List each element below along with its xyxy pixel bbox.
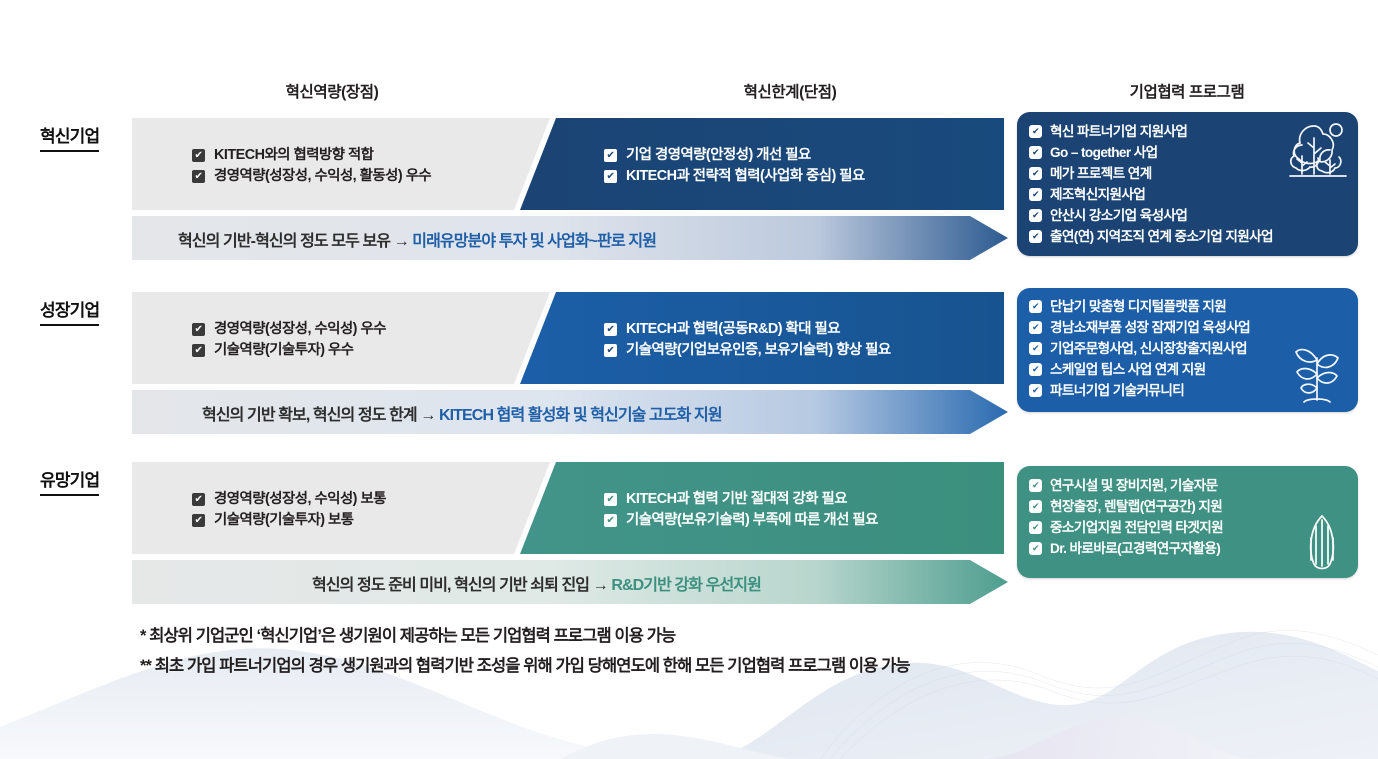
check-icon: ✔ — [1029, 384, 1042, 397]
program-item: ✔경남소재부품 성장 잠재기업 육성사업 — [1029, 317, 1358, 338]
check-icon: ✔ — [1029, 500, 1042, 513]
check-icon: ✔ — [1029, 188, 1042, 201]
row-2-program-box: ✔단납기 맞춤형 디지털플랫폼 지원 ✔경남소재부품 성장 잠재기업 육성사업 … — [1017, 288, 1358, 412]
check-icon: ✔ — [1029, 542, 1042, 555]
check-icon: ✔ — [604, 170, 617, 183]
checklist-item: ✔KITECH과 전략적 협력(사업화 중심) 필요 — [604, 166, 865, 187]
column-header-limits: 혁신한계(단점) — [560, 80, 1020, 102]
checklist-item: ✔KITECH와의 협력방향 적합 — [192, 145, 431, 166]
summary-prefix: 혁신의 정도 준비 미비, 혁신의 기반 쇠퇴 진입 → — [312, 577, 611, 594]
summary-accent: R&D기반 강화 우선지원 — [611, 577, 761, 594]
checklist-item: ✔기술역량(보유기술력) 부족에 따른 개선 필요 — [604, 510, 878, 531]
row-3-strengths-list: ✔경영역량(성장성, 수익성) 보통 ✔기술역량(기술투자) 보통 — [192, 489, 386, 531]
check-icon: ✔ — [1029, 300, 1042, 313]
row-3-program-box: ✔연구시설 및 장비지원, 기술자문 ✔현장출장, 렌탈랩(연구공간) 지원 ✔… — [1017, 466, 1358, 578]
check-icon: ✔ — [1029, 230, 1042, 243]
row-3-limits-list: ✔KITECH과 협력 기반 절대적 강화 필요 ✔기술역량(보유기술력) 부족… — [604, 489, 878, 531]
program-item: ✔파트너기업 기술커뮤니티 — [1029, 380, 1358, 401]
row-2-summary-arrow: 혁신의 기반 확보, 혁신의 정도 한계 → KITECH 협력 활성화 및 혁… — [132, 390, 1012, 434]
check-icon: ✔ — [604, 493, 617, 506]
check-icon: ✔ — [192, 493, 205, 506]
check-icon: ✔ — [1029, 146, 1042, 159]
checklist-item: ✔기술역량(기술투자) 우수 — [192, 340, 386, 361]
row-label-growth: 성장기업 — [40, 296, 99, 326]
program-item: ✔혁신 파트너기업 지원사업 — [1029, 121, 1358, 142]
checklist-item: ✔경영역량(성장성, 수익성) 우수 — [192, 319, 386, 340]
summary-accent: KITECH 협력 활성화 및 혁신기술 고도화 지원 — [439, 407, 722, 424]
check-icon: ✔ — [604, 149, 617, 162]
row-1-capability-band: ✔KITECH와의 협력방향 적합 ✔경영역량(성장성, 수익성, 활동성) 우… — [132, 118, 1012, 210]
program-item: ✔현장출장, 렌탈랩(연구공간) 지원 — [1029, 496, 1358, 517]
checklist-item: ✔경영역량(성장성, 수익성, 활동성) 우수 — [192, 166, 431, 187]
check-icon: ✔ — [1029, 342, 1042, 355]
check-icon: ✔ — [604, 514, 617, 527]
column-header-programs: 기업협력 프로그램 — [1017, 80, 1357, 102]
row-1-limits-list: ✔기업 경영역량(안정성) 개선 필요 ✔KITECH과 전략적 협력(사업화 … — [604, 145, 865, 187]
program-item: ✔제조혁신지원사업 — [1029, 184, 1358, 205]
program-item: ✔출연(연) 지역조직 연계 중소기업 지원사업 — [1029, 226, 1358, 247]
check-icon: ✔ — [192, 149, 205, 162]
checklist-item: ✔기술역량(기술투자) 보통 — [192, 510, 386, 531]
footnote-1: * 최상위 기업군인 ‘혁신기업’은 생기원이 제공하는 모든 기업협력 프로그… — [140, 622, 675, 646]
program-item: ✔Dr. 바로바로(고경력연구자활용) — [1029, 538, 1358, 559]
check-icon: ✔ — [192, 344, 205, 357]
check-icon: ✔ — [1029, 321, 1042, 334]
check-icon: ✔ — [1029, 521, 1042, 534]
row-2-capability-band: ✔경영역량(성장성, 수익성) 우수 ✔기술역량(기술투자) 우수 ✔KITEC… — [132, 292, 1012, 384]
footnote-2: ** 최초 가입 파트너기업의 경우 생기원과의 협력기반 조성을 위해 가입 … — [140, 652, 910, 676]
summary-prefix: 혁신의 기반 확보, 혁신의 정도 한계 → — [202, 407, 439, 424]
row-2-strengths-list: ✔경영역량(성장성, 수익성) 우수 ✔기술역량(기술투자) 우수 — [192, 319, 386, 361]
checklist-item: ✔기술역량(기업보유인증, 보유기술력) 향상 필요 — [604, 340, 891, 361]
program-item: ✔스케일업 팁스 사업 연계 지원 — [1029, 359, 1358, 380]
checklist-item: ✔기업 경영역량(안정성) 개선 필요 — [604, 145, 865, 166]
column-header-strengths: 혁신역량(장점) — [132, 80, 532, 102]
check-icon: ✔ — [192, 170, 205, 183]
row-1-program-box: ✔혁신 파트너기업 지원사업 ✔Go – together 사업 ✔메가 프로젝… — [1017, 112, 1358, 256]
check-icon: ✔ — [1029, 209, 1042, 222]
row-label-promising: 유망기업 — [40, 466, 99, 496]
program-item: ✔연구시설 및 장비지원, 기술자문 — [1029, 475, 1358, 496]
check-icon: ✔ — [1029, 479, 1042, 492]
program-item: ✔메가 프로젝트 연계 — [1029, 163, 1358, 184]
program-item: ✔안산시 강소기업 육성사업 — [1029, 205, 1358, 226]
row-3-capability-band: ✔경영역량(성장성, 수익성) 보통 ✔기술역량(기술투자) 보통 ✔KITEC… — [132, 462, 1012, 554]
program-item: ✔단납기 맞춤형 디지털플랫폼 지원 — [1029, 296, 1358, 317]
check-icon: ✔ — [1029, 363, 1042, 376]
row-2-summary-text: 혁신의 기반 확보, 혁신의 정도 한계 → KITECH 협력 활성화 및 혁… — [202, 401, 722, 425]
program-item: ✔중소기업지원 전담인력 타겟지원 — [1029, 517, 1358, 538]
check-icon: ✔ — [1029, 125, 1042, 138]
row-3-summary-text: 혁신의 정도 준비 미비, 혁신의 기반 쇠퇴 진입 → R&D기반 강화 우선… — [312, 571, 761, 595]
row-1-summary-text: 혁신의 기반-혁신의 정도 모두 보유 → 미래유망분야 투자 및 사업화~판로… — [178, 227, 656, 251]
checklist-item: ✔KITECH과 협력(공동R&D) 확대 필요 — [604, 319, 891, 340]
check-icon: ✔ — [192, 323, 205, 336]
check-icon: ✔ — [604, 323, 617, 336]
checklist-item: ✔경영역량(성장성, 수익성) 보통 — [192, 489, 386, 510]
summary-prefix: 혁신의 기반-혁신의 정도 모두 보유 → — [178, 233, 412, 250]
row-3-summary-arrow: 혁신의 정도 준비 미비, 혁신의 기반 쇠퇴 진입 → R&D기반 강화 우선… — [132, 560, 1012, 604]
check-icon: ✔ — [1029, 167, 1042, 180]
row-1-strengths-list: ✔KITECH와의 협력방향 적합 ✔경영역량(성장성, 수익성, 활동성) 우… — [192, 145, 431, 187]
check-icon: ✔ — [604, 344, 617, 357]
program-item: ✔Go – together 사업 — [1029, 142, 1358, 163]
checklist-item: ✔KITECH과 협력 기반 절대적 강화 필요 — [604, 489, 878, 510]
row-2-limits-list: ✔KITECH과 협력(공동R&D) 확대 필요 ✔기술역량(기업보유인증, 보… — [604, 319, 891, 361]
row-label-innovative: 혁신기업 — [40, 122, 99, 152]
row-1-summary-arrow: 혁신의 기반-혁신의 정도 모두 보유 → 미래유망분야 투자 및 사업화~판로… — [132, 216, 1012, 260]
check-icon: ✔ — [192, 514, 205, 527]
program-item: ✔기업주문형사업, 신시장창출지원사업 — [1029, 338, 1358, 359]
summary-accent: 미래유망분야 투자 및 사업화~판로 지원 — [412, 233, 656, 250]
